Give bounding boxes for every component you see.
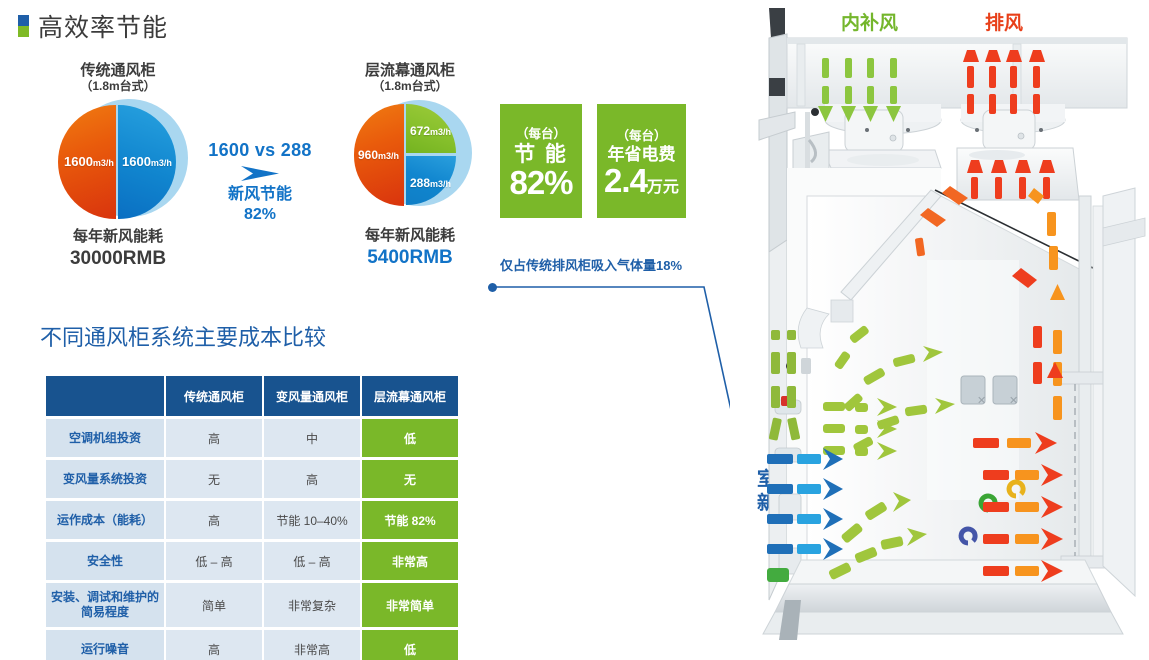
table-row-head: 安装、调试和维护的简易程度 [46,583,164,627]
slice-value: 672 [410,124,430,138]
table-cell: 高 [264,460,360,498]
pie-foot-conventional: 每年新风能耗 30000RMB [28,228,208,271]
pie-foot-label: 每年新风能耗 [73,228,163,245]
pie-caption-laminar: 层流幕通风柜 （1.8m台式） [320,62,500,94]
table-header-conventional: 传统通风柜 [166,376,262,416]
page-title: 高效率节能 [38,8,168,44]
pie-foot-laminar: 每年新风能耗 5400RMB [320,227,500,270]
pie-foot-amount: 30000RMB [28,247,208,271]
pie-block-conventional: 传统通风柜 （1.8m台式） 1600m3/h 1600m3/h 每年新风能耗 … [28,62,208,271]
table-cell-highlight: 非常简单 [362,583,458,627]
table-header-row: 传统通风柜 变风量通风柜 层流幕通风柜 [46,376,458,416]
badge-big-value: 82% [509,166,572,199]
pie-caption-text: 层流幕通风柜 [365,62,455,79]
pie-caption-sub: （1.8m台式） [320,80,500,94]
badge-mid-label: 节 能 [514,144,568,166]
pie-caption-text: 传统通风柜 [80,62,155,79]
table-header-corner [46,376,164,416]
pie-slice-label-blue: 1600m3/h [122,154,172,169]
table-cell: 高 [166,501,262,539]
table-row-head: 空调机组投资 [46,419,164,457]
table-row: 安全性 低 – 高 低 – 高 非常高 [46,542,458,580]
table-row-head: 运作成本（能耗） [46,501,164,539]
slice-value: 1600 [122,154,151,169]
table-row-head: 安全性 [46,542,164,580]
pie-slice-label-blue: 288m3/h [410,176,451,190]
badge-top-label: （每台） [616,125,666,144]
vs-line2: 82% [196,205,324,225]
table-header-laminar: 层流幕通风柜 [362,376,458,416]
logo-mark-top [18,15,29,26]
slice-unit: m3/h [430,179,451,189]
pie-slice-label-orange: 960m3/h [358,148,399,162]
table-cell: 中 [264,419,360,457]
table-cell-highlight: 无 [362,460,458,498]
arrow-right-icon [239,165,281,182]
logo-mark-bottom [18,26,29,37]
pie-block-laminar: 层流幕通风柜 （1.8m台式） 960m3/h 672m3/h 288m3/h … [320,62,500,270]
slice-unit: m3/h [430,127,451,137]
table-row: 运作成本（能耗） 高 节能 10–40% 节能 82% [46,501,458,539]
table-cell: 非常复杂 [264,583,360,627]
vs-headline: 1600 vs 288 [196,140,324,161]
badge-value-unit: 万元 [647,179,679,196]
table-row: 安装、调试和维护的简易程度 简单 非常复杂 非常简单 [46,583,458,627]
table-cell: 高 [166,630,262,660]
slice-value: 288 [410,176,430,190]
cost-comparison-table: 传统通风柜 变风量通风柜 层流幕通风柜 空调机组投资 高 中 低 变风量系统投资… [44,373,460,660]
table-cell-highlight: 低 [362,630,458,660]
pie-chart-conventional: 1600m3/h 1600m3/h [56,102,180,220]
table-cell: 低 – 高 [264,542,360,580]
fume-hood-illustration: 内补风 排风 室内 新风 [745,0,1149,660]
slice-unit: m3/h [378,151,399,161]
slice-value: 1600 [64,154,93,169]
slice-value: 960 [358,148,378,162]
table-row-head: 运行噪音 [46,630,164,660]
svg-text:✕: ✕ [977,395,986,407]
table-cell: 高 [166,419,262,457]
table-row: 空调机组投资 高 中 低 [46,419,458,457]
logo-mark-icon [18,15,29,37]
table-row: 变风量系统投资 无 高 无 [46,460,458,498]
infographic-page: 高效率节能 传统通风柜 （1.8m台式） 1600m3/h 1600m3/h 每… [0,0,1149,660]
table-cell: 低 – 高 [166,542,262,580]
table-cell: 非常高 [264,630,360,660]
vs-line1: 新风节能 [196,185,324,205]
pie-caption-conventional: 传统通风柜 （1.8m台式） [28,62,208,94]
badge-value-number: 2.4 [604,162,647,199]
pie-foot-amount: 5400RMB [320,246,500,270]
table-cell: 简单 [166,583,262,627]
pie-slice-label-orange: 1600m3/h [64,154,114,169]
table-cell: 无 [166,460,262,498]
slice-unit: m3/h [93,158,114,168]
table-row: 运行噪音 高 非常高 低 [46,630,458,660]
table-cell-highlight: 非常高 [362,542,458,580]
table-row-head: 变风量系统投资 [46,460,164,498]
pie-slice-label-green: 672m3/h [410,124,451,138]
badge-value-number: 82% [509,164,572,201]
comparison-callout: 1600 vs 288 新风节能 82% [196,140,324,225]
callout-leader-line [480,255,730,470]
callout-group: 仅占传统排风柜吸入气体量18% [480,255,730,470]
slice-unit: m3/h [151,158,172,168]
page-header: 高效率节能 [18,8,168,44]
pie-chart-laminar: 960m3/h 672m3/h 288m3/h [348,102,472,212]
table-title: 不同通风柜系统主要成本比较 [40,320,326,352]
badge-energy-saving: （每台） 节 能 82% [500,104,582,218]
pie-foot-label: 每年新风能耗 [365,227,455,244]
badge-annual-savings: （每台） 年省电费 2.4万元 [597,104,686,218]
fume-hood-drawing: ✕ ✕ [745,0,1149,660]
pie-caption-sub: （1.8m台式） [28,80,208,94]
svg-text:✕: ✕ [1009,395,1018,407]
table-header-vav: 变风量通风柜 [264,376,360,416]
table-cell-highlight: 节能 82% [362,501,458,539]
badge-big-value: 2.4万元 [604,164,679,197]
interior-green-dashes-mid [823,398,897,460]
badge-top-label: （每台） [516,123,566,142]
table-cell-highlight: 低 [362,419,458,457]
table-cell: 节能 10–40% [264,501,360,539]
